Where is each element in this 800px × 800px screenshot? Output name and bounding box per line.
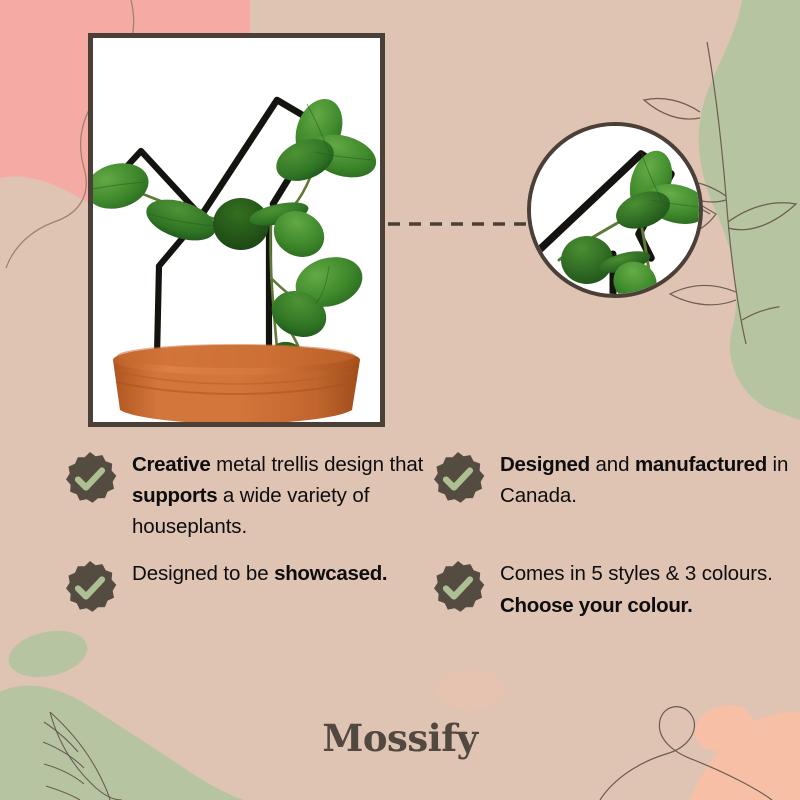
feature-styles-and-colours: Comes in 5 styles & 3 colours. Choose yo… (430, 556, 792, 620)
feature-text: Designed and manufactured in Canada. (500, 447, 792, 511)
product-photo (93, 38, 380, 422)
feature-creative-design: Creative metal trellis design that suppo… (62, 447, 430, 542)
blob-sage-top-right (699, 0, 800, 420)
check-badge-icon (62, 451, 118, 507)
product-photo-frame (88, 33, 385, 427)
check-badge-icon (430, 451, 486, 507)
feature-list: Creative metal trellis design that suppo… (62, 447, 792, 621)
magnifier-content (531, 126, 699, 294)
feature-part-bold: showcased. (274, 562, 387, 585)
feature-text: Creative metal trellis design that suppo… (132, 447, 430, 542)
feature-part-bold: manufactured (635, 453, 767, 476)
feature-showcased: Designed to be showcased. (62, 556, 430, 620)
blob-sage-small-left (4, 624, 91, 684)
feature-part: metal trellis design that (211, 453, 424, 476)
feature-part: Comes in 5 styles & 3 colours. (500, 562, 773, 585)
blob-sage-right-edge (779, 238, 800, 378)
feature-text: Designed to be showcased. (132, 556, 387, 589)
brand-logo: Mossify (0, 716, 800, 760)
feature-part-bold: Choose your colour. (500, 594, 693, 617)
feature-part-bold: supports (132, 484, 217, 507)
feature-part: Designed to be (132, 562, 274, 585)
terracotta-pot (113, 344, 360, 422)
magnifier-detail-circle (527, 122, 703, 298)
blob-peach-bottom-center (436, 670, 504, 710)
feature-part: and (590, 453, 635, 476)
feature-made-in-canada: Designed and manufactured in Canada. (430, 447, 792, 542)
feature-part-bold: Creative (132, 453, 211, 476)
feature-part-bold: Designed (500, 453, 590, 476)
check-badge-icon (430, 560, 486, 616)
feature-text: Comes in 5 styles & 3 colours. Choose yo… (500, 556, 792, 620)
marketing-graphic: Creative metal trellis design that suppo… (0, 0, 800, 800)
check-badge-icon (62, 560, 118, 616)
magnifier-connector-line (388, 222, 530, 226)
